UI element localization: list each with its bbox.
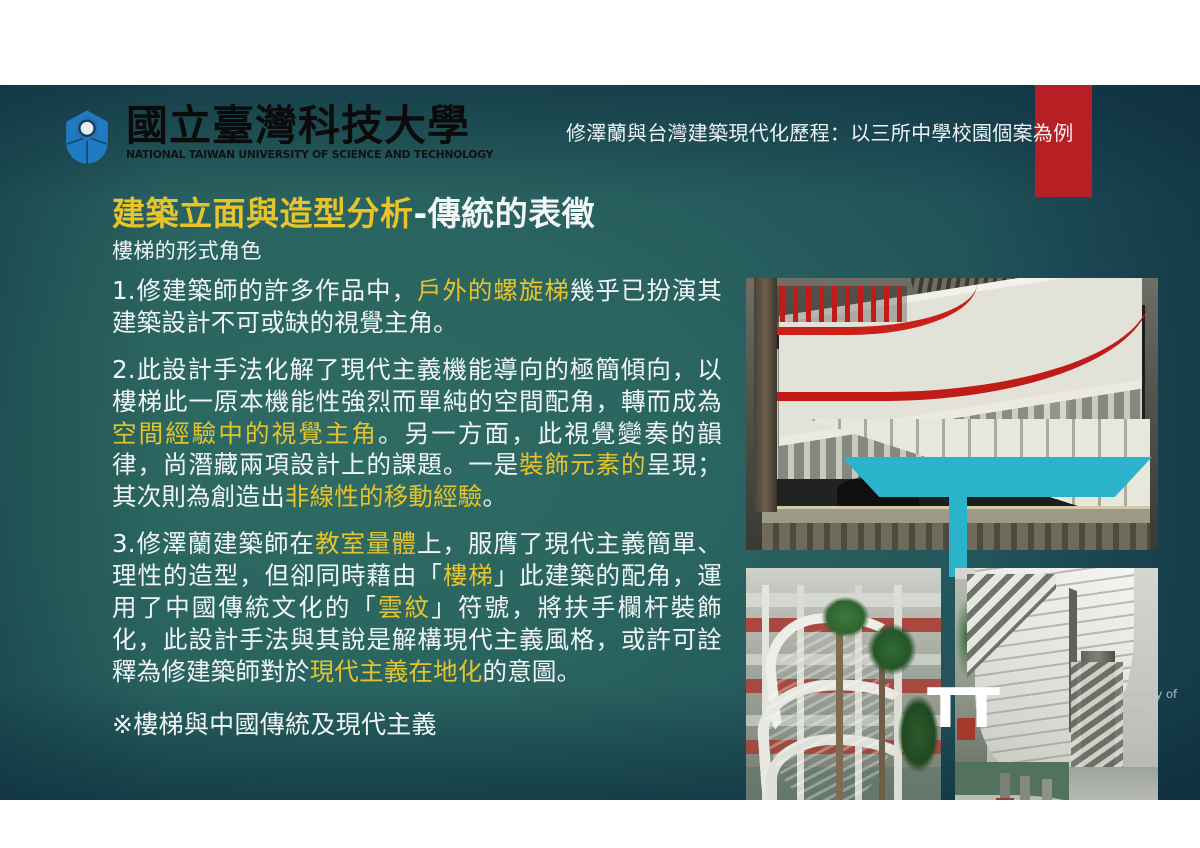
watermark-line-2: logy [1120,703,1200,719]
photo-exterior-spiral-staircase-palms [746,568,941,800]
photo-collage: TT iversity of logy [0,85,1200,800]
slide-canvas: 國立臺灣科技大學 NATIONAL TAIWAN UNIVERSITY OF S… [0,85,1200,800]
cyan-ribbon-banner [842,457,1152,497]
faint-watermark: iversity of logy [1120,687,1200,718]
watermark-line-1: iversity of [1120,687,1200,703]
tt-letter-mark: TT [927,685,961,781]
